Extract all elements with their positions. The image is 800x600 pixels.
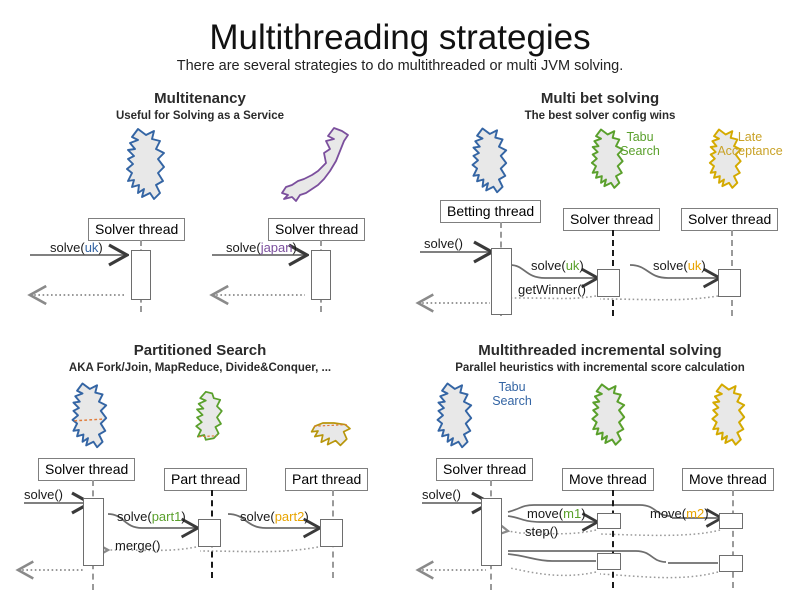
thread-box-solver-2[interactable]: Solver thread — [268, 218, 365, 241]
activation-move-2a — [719, 513, 743, 529]
late-acceptance-caption-q2: Late Acceptance — [700, 130, 800, 159]
section-title-incremental: Multithreaded incremental solving — [400, 342, 800, 359]
thread-box-solver-q4[interactable]: Solver thread — [436, 458, 533, 481]
uk-part1-map-green — [185, 388, 233, 450]
arg-m2: m2 — [686, 506, 704, 521]
thread-box-move-2[interactable]: Move thread — [682, 468, 774, 491]
message-move-m1: move(m1) — [527, 506, 586, 521]
activation-part-1 — [198, 519, 221, 547]
japan-map-purple — [278, 123, 354, 213]
thread-box-solver-gold[interactable]: Solver thread — [681, 208, 778, 231]
message-solve-uk-green: solve(uk) — [531, 258, 584, 273]
lifeline-move-2 — [732, 490, 734, 588]
section-subtitle-partitioned: AKA Fork/Join, MapReduce, Divide&Conquer… — [0, 362, 400, 374]
uk-map-gold-q4 — [696, 378, 758, 458]
thread-box-move-1[interactable]: Move thread — [562, 468, 654, 491]
activation-move-1a — [597, 513, 621, 529]
late-acceptance-line2: Acceptance — [717, 144, 782, 158]
message-merge: merge() — [115, 538, 161, 553]
uk-map-blue-q2 — [455, 123, 521, 205]
arg-japan: japan — [261, 240, 293, 255]
uk-map-green-q4 — [576, 378, 638, 458]
arg-uk: uk — [85, 240, 99, 255]
thread-box-part-2[interactable]: Part thread — [285, 468, 368, 491]
message-solve-uk: solve(uk) — [50, 240, 103, 255]
section-subtitle-multi-bet: The best solver config wins — [400, 110, 800, 122]
lifeline-move-1 — [612, 490, 614, 588]
activation-move-1b — [597, 553, 621, 570]
activation-part-2 — [320, 519, 343, 547]
arg-part2: part2 — [275, 509, 305, 524]
arg-uk-green: uk — [566, 258, 580, 273]
message-solve-japan: solve(japan) — [226, 240, 297, 255]
message-solve-part2: solve(part2) — [240, 509, 309, 524]
arg-part1: part1 — [152, 509, 182, 524]
section-title-partitioned: Partitioned Search — [0, 342, 400, 359]
message-solve-q3: solve() — [24, 487, 63, 502]
tabu-search-caption-q4: Tabu Search — [472, 380, 552, 409]
thread-box-solver-green[interactable]: Solver thread — [563, 208, 660, 231]
section-title-multitenancy: Multitenancy — [0, 90, 400, 107]
section-subtitle-incremental: Parallel heuristics with incremental sco… — [400, 362, 800, 374]
thread-box-solver-1[interactable]: Solver thread — [88, 218, 185, 241]
tabu-search-line1: Tabu — [626, 130, 653, 144]
tabu-search-caption-q2: Tabu Search — [600, 130, 680, 159]
tabu-search-line1-q4: Tabu — [498, 380, 525, 394]
uk-map-partitioned-blue — [55, 378, 121, 460]
section-subtitle-multitenancy: Useful for Solving as a Service — [0, 110, 400, 122]
activation-solver-q4 — [481, 498, 502, 566]
message-solve-q2: solve() — [424, 236, 463, 251]
activation-move-2b — [719, 555, 743, 572]
message-solve-part1: solve(part1) — [117, 509, 186, 524]
thread-box-solver-q3[interactable]: Solver thread — [38, 458, 135, 481]
arg-uk-gold: uk — [688, 258, 702, 273]
tabu-search-line2-q4: Search — [492, 394, 532, 408]
tabu-search-line2: Search — [620, 144, 660, 158]
message-get-winner: getWinner() — [518, 282, 586, 297]
message-solve-uk-gold: solve(uk) — [653, 258, 706, 273]
page-title: Multithreading strategies — [0, 18, 800, 58]
activation-solver-q3 — [83, 498, 104, 566]
activation-solver-2 — [311, 250, 331, 300]
arg-m1: m1 — [563, 506, 581, 521]
late-acceptance-line1: Late — [738, 130, 762, 144]
message-solve-q4: solve() — [422, 487, 461, 502]
section-title-multi-bet: Multi bet solving — [400, 90, 800, 107]
activation-solver-gold — [718, 269, 741, 297]
message-step: step() — [525, 524, 558, 539]
slide-canvas: Multithreading strategies There are seve… — [0, 0, 800, 600]
activation-betting — [491, 248, 512, 315]
thread-box-part-1[interactable]: Part thread — [164, 468, 247, 491]
uk-part2-map-gold — [310, 418, 358, 452]
activation-solver-1 — [131, 250, 151, 300]
uk-map-blue-q1 — [108, 123, 180, 213]
activation-solver-green — [597, 269, 620, 297]
thread-box-betting[interactable]: Betting thread — [440, 200, 541, 223]
message-move-m2: move(m2) — [650, 506, 709, 521]
page-subtitle: There are several strategies to do multi… — [0, 58, 800, 74]
